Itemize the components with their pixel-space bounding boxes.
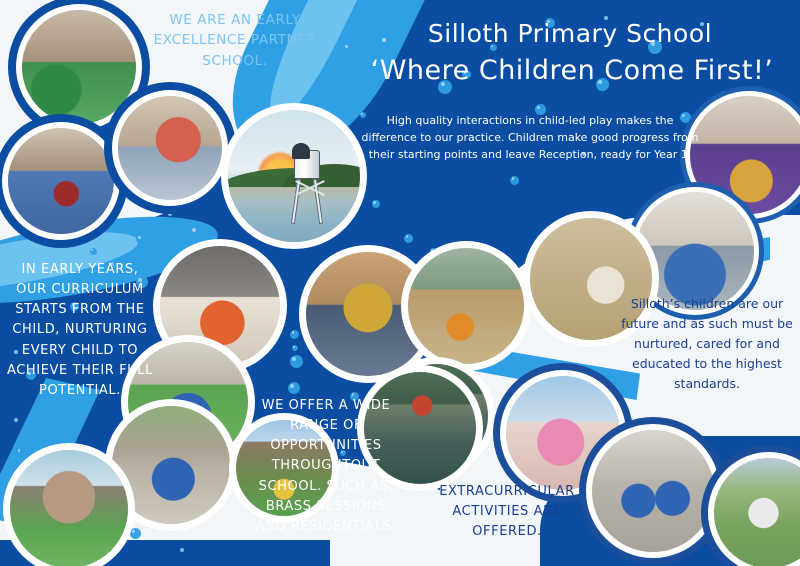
photo-image <box>592 430 714 552</box>
bubble-icon <box>90 248 97 255</box>
callout-early-years-curriculum: IN EARLY YEARS, OUR CURRICULUM STARTS FR… <box>4 260 156 401</box>
photo-field-athletics <box>714 458 800 566</box>
photo-image <box>118 96 222 200</box>
bubble-icon <box>290 355 303 368</box>
photo-hockey-practice <box>592 430 714 552</box>
callout-opportunities: WE OFFER A WIDE RANGE OF OPPORTUNITIES T… <box>250 396 402 537</box>
photo-school-hall-assembly <box>636 192 754 310</box>
bubble-icon <box>136 234 146 244</box>
bubble-icon <box>288 382 300 394</box>
callout-extracurricular: EXTRACURRICULAR ACTIVITIES ARE OFFERED. <box>424 482 590 542</box>
bubble-icon <box>190 226 203 239</box>
bubble-icon <box>404 234 413 243</box>
page-strapline: ‘Where Children Come First!’ <box>352 54 792 89</box>
photo-image <box>8 128 114 234</box>
bubble-icon <box>372 200 380 208</box>
intro-paragraph: High quality interactions in child-led p… <box>360 112 700 163</box>
photo-image <box>408 248 524 364</box>
bubble-icon <box>510 176 519 185</box>
bubble-icon <box>344 44 352 52</box>
photo-image <box>714 458 800 566</box>
photo-school-building-outdoors <box>10 450 128 566</box>
bubble-icon <box>14 418 18 422</box>
bubble-icon <box>180 548 184 552</box>
photo-image <box>10 450 128 566</box>
photo-plant-watering <box>112 406 230 524</box>
bubble-icon <box>130 528 141 539</box>
bubble-icon <box>290 330 299 339</box>
photo-image <box>228 110 360 242</box>
photo-image <box>636 192 754 310</box>
photo-teacher-with-children <box>118 96 222 200</box>
school-poster: WE ARE AN EARLY EXCELLENCE PARTNER SCHOO… <box>0 0 800 566</box>
callout-vision: Silloth’s children are our future and as… <box>616 294 798 394</box>
photo-silloth-lighthouse <box>228 110 360 242</box>
photo-image <box>112 406 230 524</box>
lighthouse-lamp-room <box>292 143 310 159</box>
photo-classroom-reading-box <box>8 128 114 234</box>
photo-pumpkin-outdoor-area <box>408 248 524 364</box>
callout-early-excellence: WE ARE AN EARLY EXCELLENCE PARTNER SCHOO… <box>140 10 330 71</box>
bubble-icon <box>168 212 172 216</box>
page-title: Silloth Primary School <box>360 18 780 50</box>
bubble-icon <box>292 345 298 351</box>
